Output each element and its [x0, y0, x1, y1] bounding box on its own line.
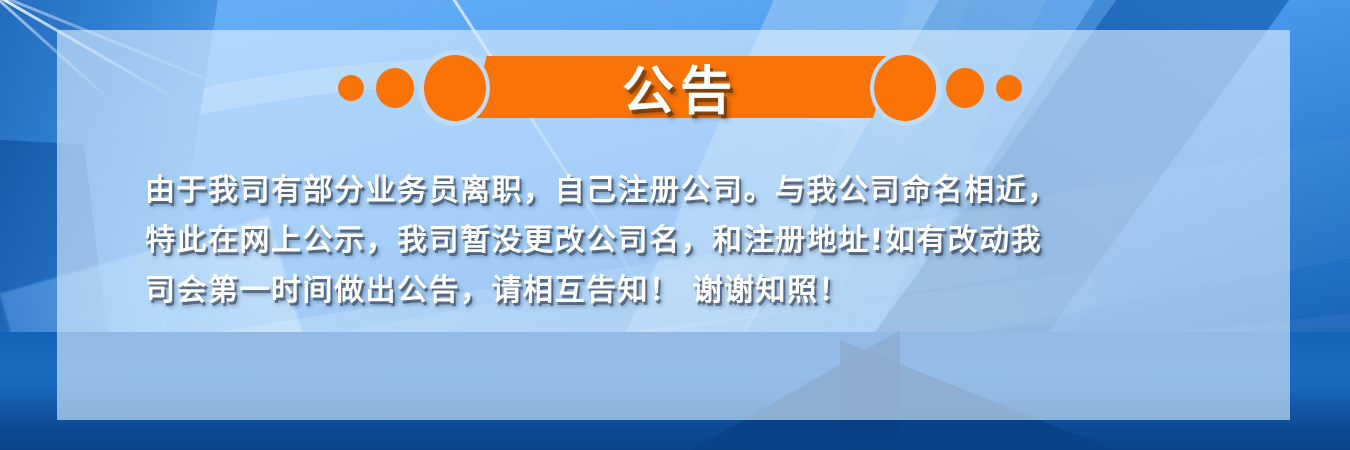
- announcement-line: 特此在网上公示，我司暂没更改公司名，和注册地址!如有改动我: [145, 216, 1225, 266]
- announcement-line: 由于我司有部分业务员离职，自己注册公司。与我公司命名相近，: [145, 166, 1225, 216]
- page-title: 公告: [330, 52, 1030, 124]
- announcement-body: 由于我司有部分业务员离职，自己注册公司。与我公司命名相近， 特此在网上公示，我司…: [145, 166, 1225, 316]
- announcement-line: 司会第一时间做出公告，请相互告知！ 谢谢知照！: [145, 266, 1225, 316]
- title-ribbon: 公告: [330, 52, 1030, 124]
- announcement-banner: 公告 由于我司有部分业务员离职，自己注册公司。与我公司命名相近， 特此在网上公示…: [0, 0, 1350, 450]
